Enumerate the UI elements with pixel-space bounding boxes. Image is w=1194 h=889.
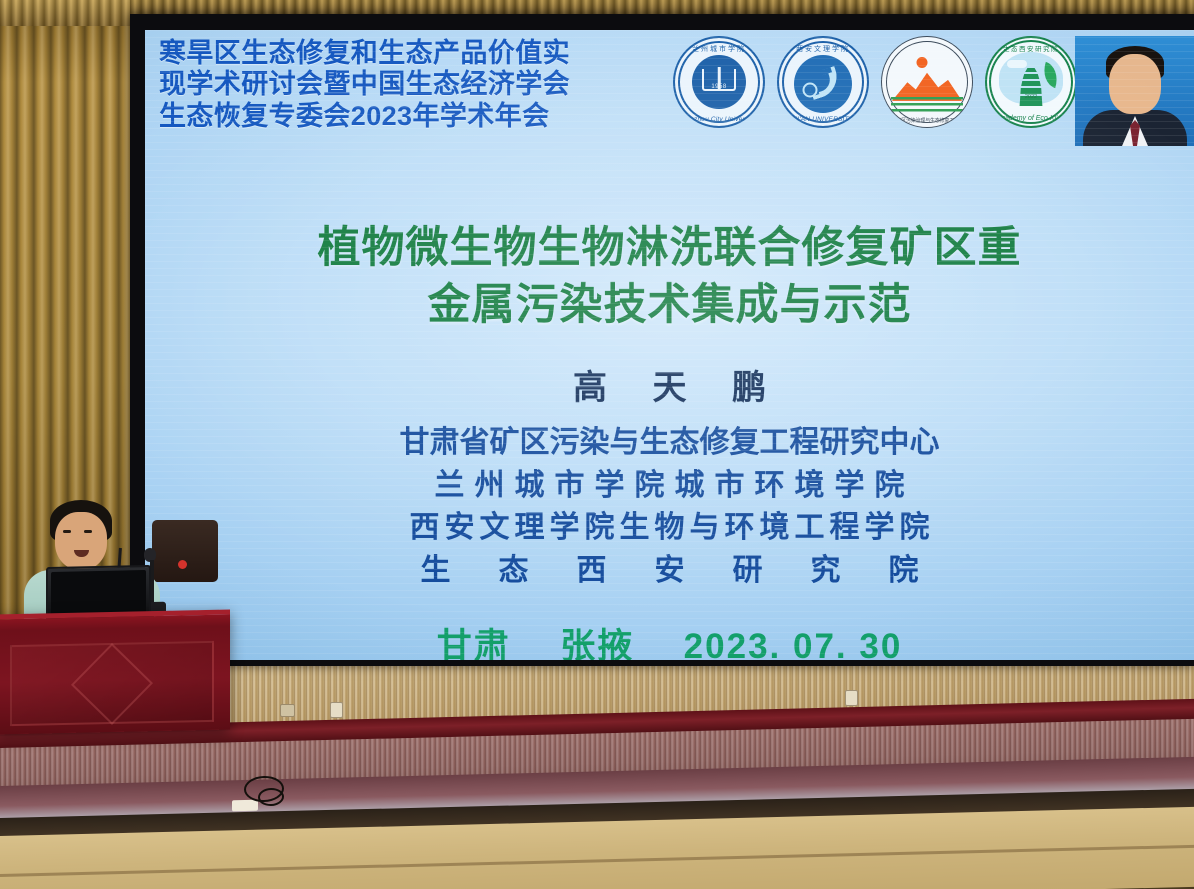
conference-hall-scene: 寒旱区生态修复和生态产品价值实 现学术研讨会暨中国生态经济学会 生态恢复专委会2… [0,0,1194,889]
presenter-eye-left [63,530,71,533]
slide-main-title: 植物微生物生物淋洗联合修复矿区重 金属污染技术集成与示范 [145,220,1194,334]
lectern-podium [0,610,230,735]
organization-logo-row: 兰州城市学院 1958 Lanzhou City University 西安文理… [673,36,1077,128]
cloud-knot-icon [802,82,817,97]
xau-logo-cn-text: 西安文理学院 [779,44,867,54]
slide-footer: 甘肃 张掖 2023. 07. 30 [145,618,1194,660]
sun-icon [916,57,927,68]
slide-content: 寒旱区生态修复和生态产品价值实 现学术研讨会暨中国生态经济学会 生态恢复专委会2… [145,30,1194,660]
indicator-light [178,560,187,569]
presenter-name: 高 天 鹏 [145,360,1194,409]
power-strip [232,800,258,812]
conference-header-line-3: 生态恢复专委会2023年学术年会 [159,101,679,132]
main-title-line-1: 植物微生物生物淋洗联合修复矿区重 [145,220,1194,277]
lzcu-logo-disc: 1958 [692,55,746,109]
conference-header-line-1: 寒旱区生态修复和生态产品价值实 [159,38,679,69]
conference-header-line-2: 现学术研讨会暨中国生态经济学会 [159,69,679,100]
academy-of-eco-xian-logo-icon: 生态西安研究院 2022 Academy of Eco Xi'an [985,36,1077,128]
affiliation-line-2: 兰州城市学院城市环境学院 [145,465,1194,508]
conference-header: 寒旱区生态修复和生态产品价值实 现学术研讨会暨中国生态经济学会 生态恢复专委会2… [159,38,679,132]
lzcu-logo-cn-text: 兰州城市学院 [675,44,763,54]
lzcu-logo-en-text: Lanzhou City University [675,116,763,123]
xau-logo-disc [794,55,852,113]
presentation-screen: 寒旱区生态修复和生态产品价值实 现学术研讨会暨中国生态经济学会 生态恢复专委会2… [145,30,1194,660]
presenter-eye-right [84,530,92,533]
footer-date: 2023. 07. 30 [684,627,903,660]
presenter-face [55,512,107,570]
main-title-line-2: 金属污染技术集成与示范 [145,277,1194,334]
presenter-portrait-photo [1075,36,1194,146]
lzcu-logo-year: 1958 [692,84,746,90]
eco-logo-year: 2022 [987,94,1075,100]
footer-city: 张掖 [560,627,634,660]
footer-province: 甘肃 [437,627,511,660]
podium-front-panel [10,641,214,726]
affiliation-line-1: 甘肃省矿区污染与生态修复工程研究中心 [145,422,1194,465]
affiliation-block: 甘肃省矿区污染与生态修复工程研究中心 兰州城市学院城市环境学院 西安文理学院生物… [145,422,1194,592]
water-waves-icon [891,97,963,112]
eco-logo-en-text: Academy of Eco Xi'an [987,115,1075,122]
wall-outlet [280,704,295,717]
gansu-logo-cn-text: 甘肃省矿区污染治理与生态修复工程研究中心 [882,117,972,124]
curtain-valance-left [0,0,140,26]
gansu-eco-center-logo-icon: 甘肃省矿区污染治理与生态修复工程研究中心 [881,36,973,128]
affiliation-line-4: 生态西安研究院 [145,550,1194,593]
lanzhou-city-university-logo-icon: 兰州城市学院 1958 Lanzhou City University [673,36,765,128]
light-switch [330,702,343,718]
cloud-icon [1007,60,1027,68]
affiliation-line-3: 西安文理学院生物与环境工程学院 [145,507,1194,550]
portrait-face [1109,54,1161,114]
podium-diamond-inlay [71,642,153,724]
xian-university-logo-icon: 西安文理学院 XI'AN UNIVERSITY [777,36,869,128]
light-switch-right [845,690,858,706]
xau-logo-en-text: XI'AN UNIVERSITY [779,116,867,123]
